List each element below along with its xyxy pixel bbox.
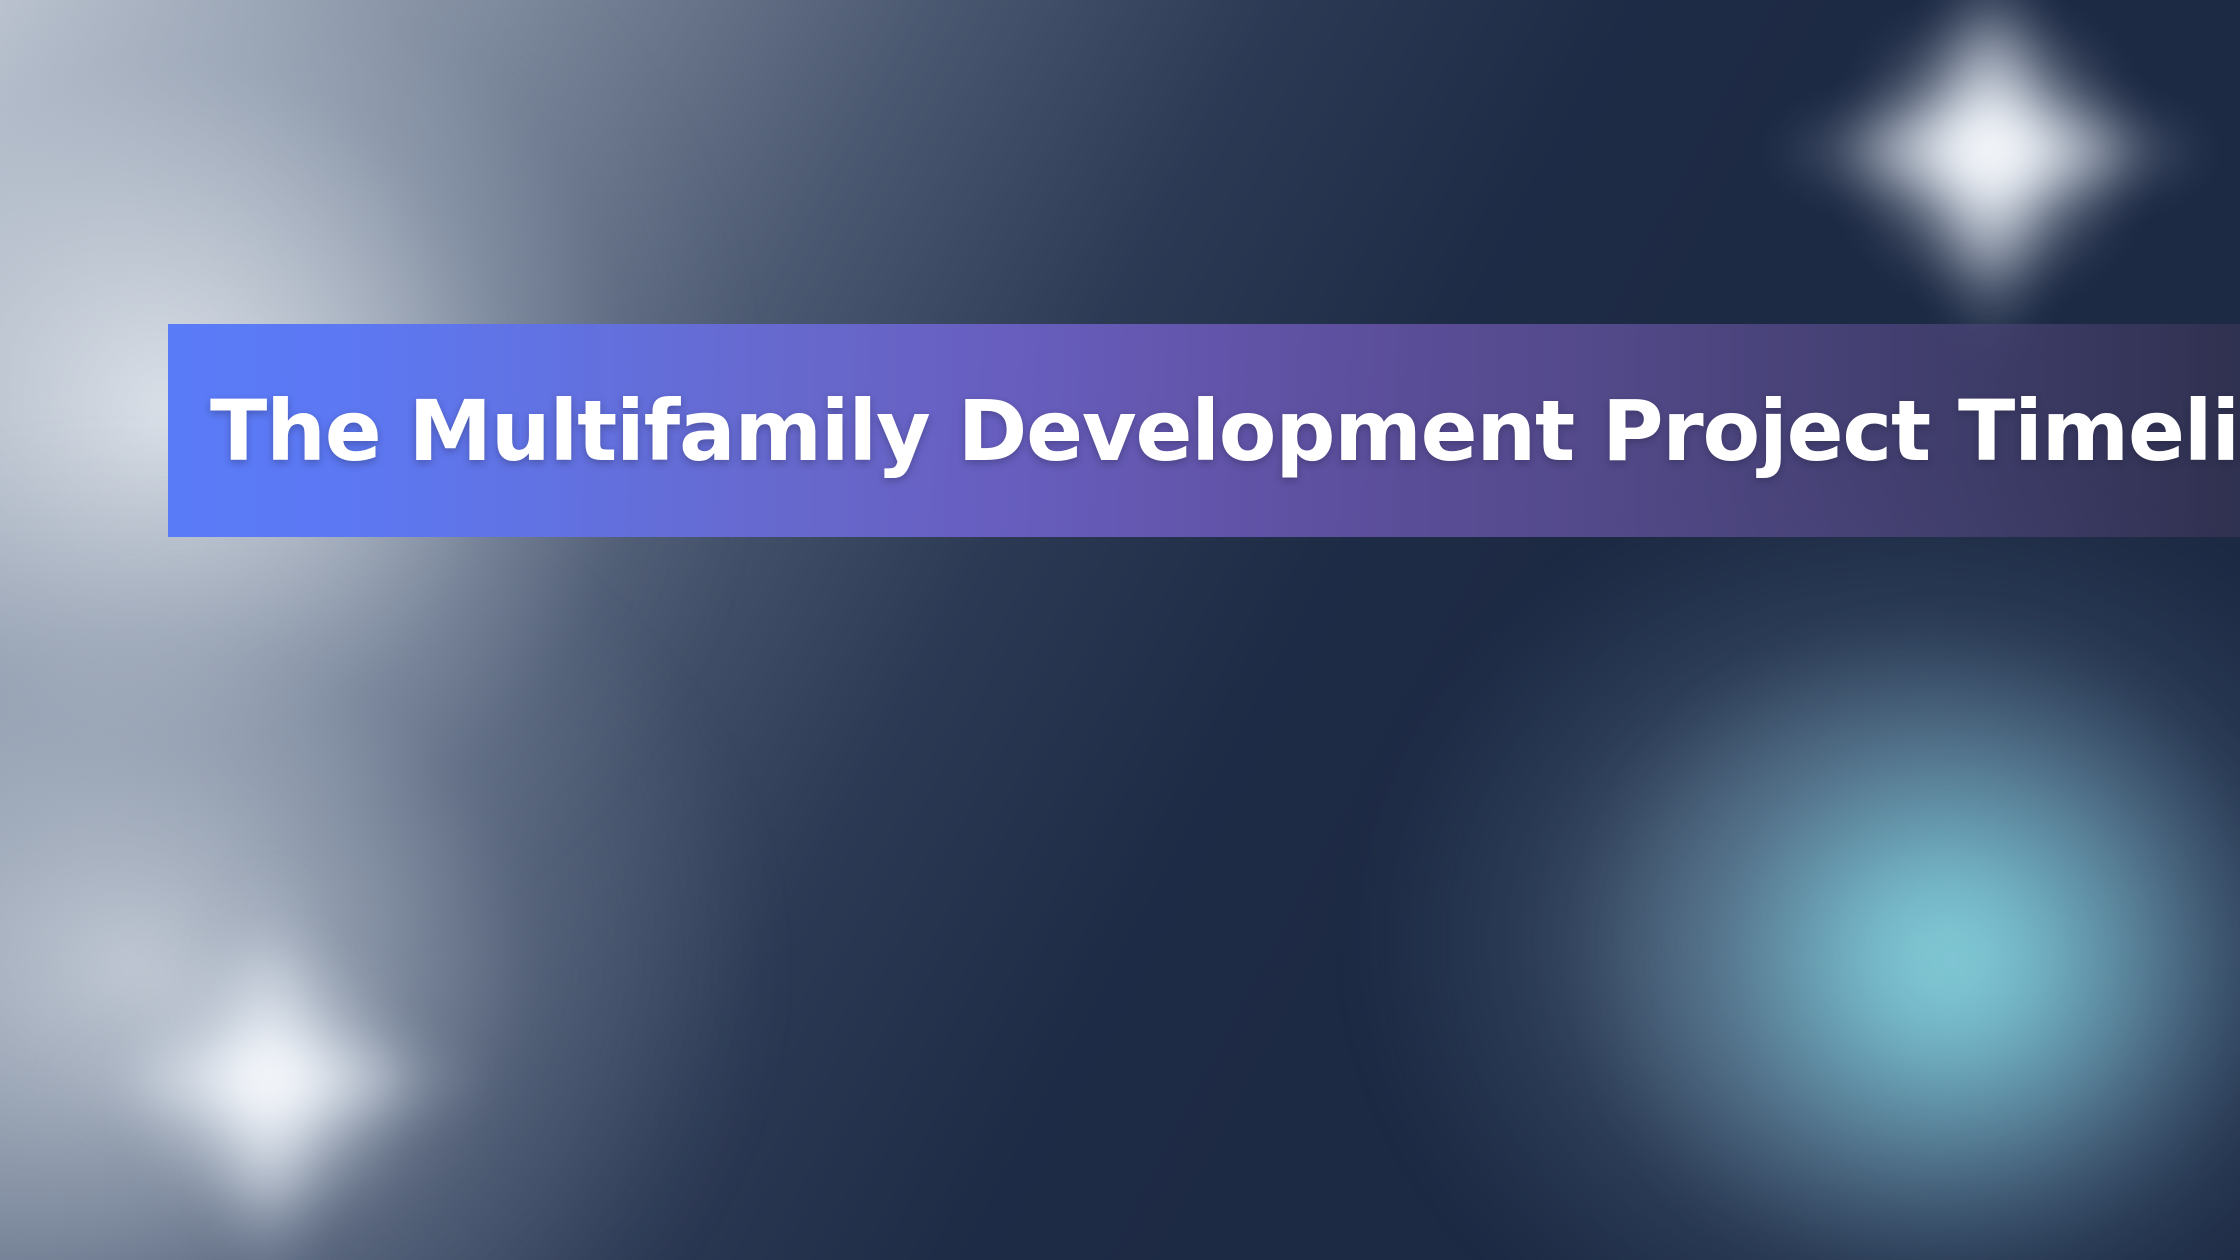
teal-orb-core-glow	[1600, 630, 2240, 1260]
slide-canvas: The Multifamily Development Project Time…	[0, 0, 2240, 1260]
sparkle-top-right-icon	[1990, 150, 1992, 152]
sparkle-ray-vertical	[1916, 0, 2066, 366]
left-light-bloom-bottom-glow	[0, 430, 780, 1260]
sparkle-core	[1846, 6, 2136, 296]
slide-title: The Multifamily Development Project Time…	[168, 389, 2240, 473]
sparkle-ray-horizontal	[1766, 81, 2216, 221]
title-banner: The Multifamily Development Project Time…	[168, 324, 2240, 537]
